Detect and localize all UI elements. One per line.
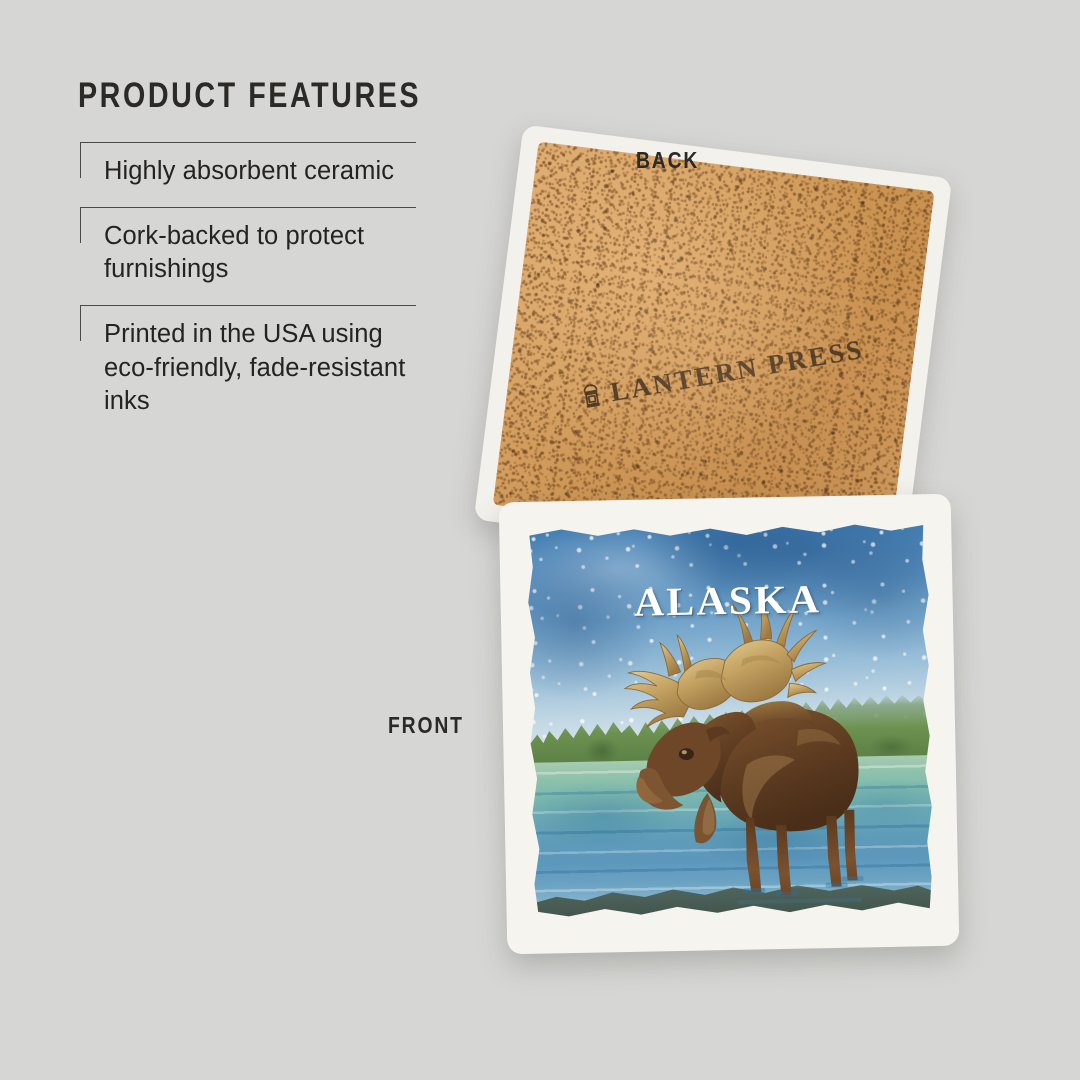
feature-text: Cork-backed to protect furnishings (104, 220, 423, 286)
brand-mark: LANTERN PRESS (578, 334, 866, 413)
coaster-artwork: ALASKA (525, 520, 934, 920)
list-item: Printed in the USA using eco-friendly, f… (78, 305, 423, 417)
product-features-panel: PRODUCT FEATURES Highly absorbent cerami… (78, 78, 423, 437)
cork-surface: LANTERN PRESS (493, 142, 935, 555)
list-item: Highly absorbent ceramic (78, 142, 423, 188)
brand-name: LANTERN PRESS (608, 334, 866, 408)
callout-label-front: FRONT (388, 712, 464, 739)
lantern-icon (579, 382, 604, 410)
feature-text: Printed in the USA using eco-friendly, f… (104, 318, 423, 417)
list-item: Cork-backed to protect furnishings (78, 207, 423, 286)
callout-label-back: BACK (636, 147, 699, 174)
feature-list: Highly absorbent ceramic Cork-backed to … (78, 142, 423, 418)
front-coaster: ALASKA (499, 494, 960, 955)
artwork-title: ALASKA (525, 573, 934, 628)
page-title: PRODUCT FEATURES (78, 78, 361, 113)
feature-text: Highly absorbent ceramic (104, 155, 423, 188)
